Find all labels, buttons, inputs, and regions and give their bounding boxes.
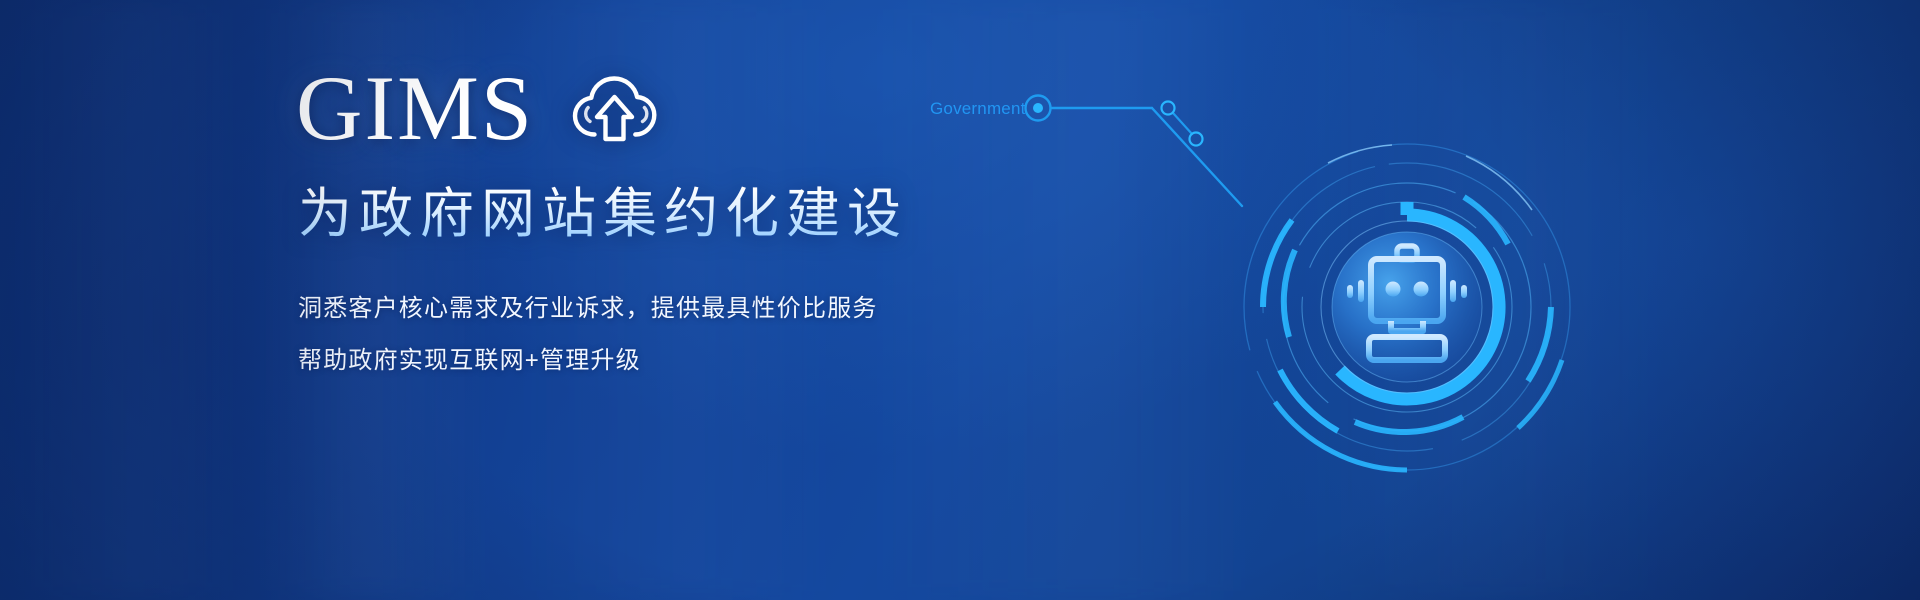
banner-headline: 为政府网站集约化建设: [298, 183, 908, 247]
government-node-label: Government: [930, 99, 1026, 119]
node-circle-icon: [1026, 96, 1051, 121]
government-connector: Government: [930, 82, 1270, 297]
cloud-upload-icon: [568, 69, 664, 148]
brand-title: GIMS: [296, 62, 534, 154]
hero-banner: GIMS 为政府网站集约化建设 洞悉客户核心需求及行业诉求，提供最具性价比服务 …: [0, 0, 1920, 600]
hud-graphic: [1232, 132, 1582, 482]
banner-subtitle-1: 洞悉客户核心需求及行业诉求，提供最具性价比服务: [298, 296, 878, 322]
banner-subtitles: 洞悉客户核心需求及行业诉求，提供最具性价比服务 帮助政府实现互联网+管理升级: [298, 296, 878, 375]
banner-subtitle-2: 帮助政府实现互联网+管理升级: [298, 348, 878, 374]
brand-row: GIMS: [296, 62, 664, 154]
